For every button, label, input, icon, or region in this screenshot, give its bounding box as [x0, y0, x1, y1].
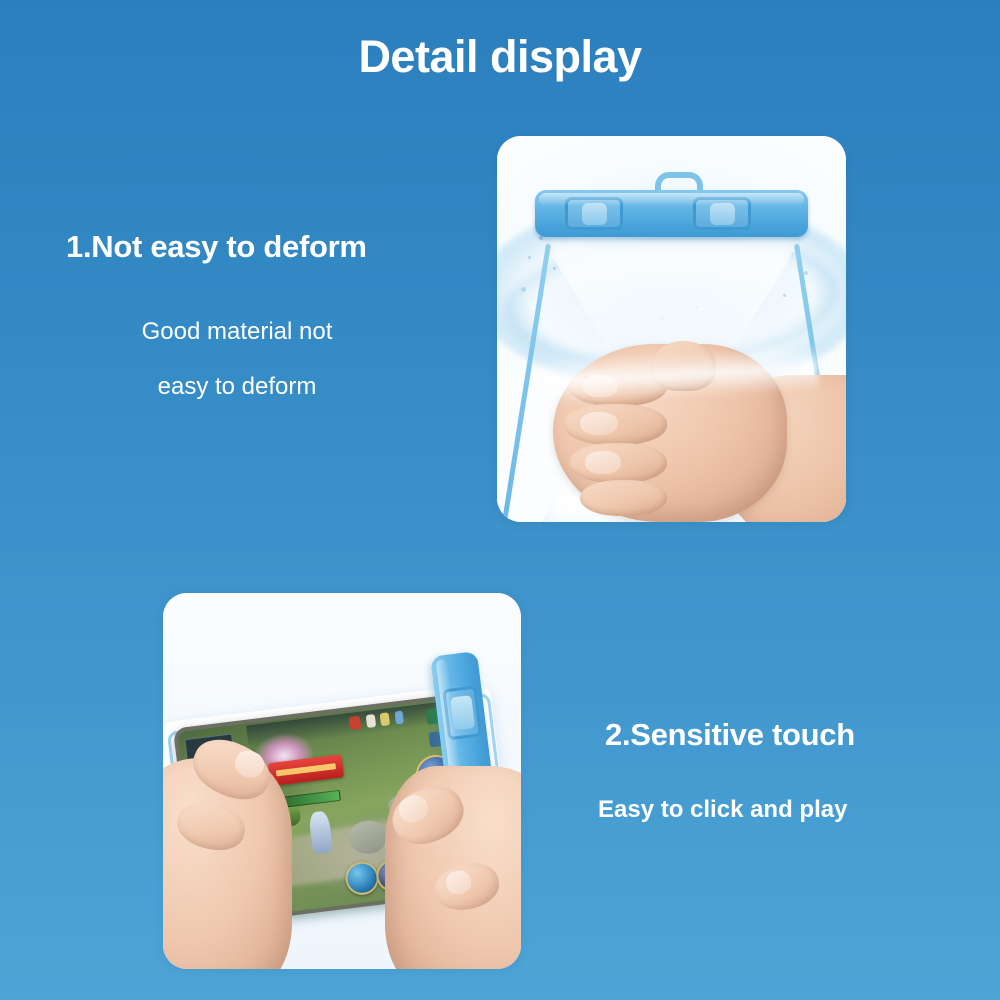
finger [580, 480, 667, 517]
pouch-clamp-assembly [535, 173, 807, 250]
clamp-lock-right [693, 197, 751, 230]
fingernail [585, 451, 620, 474]
feature-1-subtext-line-2: easy to deform [0, 373, 474, 401]
fingernail [580, 412, 618, 435]
lock-knob [582, 203, 607, 225]
feature-1-heading: 1.Not easy to deform [66, 229, 367, 265]
marketing-page: Detail display 1.Not easy to deform Good… [0, 0, 1000, 1000]
feature-2-photo-panel: 16 [163, 593, 521, 969]
clamp-bar [535, 190, 807, 238]
feature-1-subtext-line-1: Good material not [0, 318, 474, 346]
pouch-squeeze-photo [497, 136, 846, 522]
gaming-through-pouch-photo: 16 [163, 593, 521, 969]
feature-2-heading: 2.Sensitive touch [605, 717, 855, 753]
lock-knob [450, 696, 475, 731]
feature-1-photo-panel [497, 136, 846, 522]
page-title: Detail display [0, 34, 1000, 79]
feature-2-subtext-line-1: Easy to click and play [598, 796, 847, 824]
clamp-lock-left [565, 197, 623, 230]
lock-knob [710, 203, 735, 225]
clamp-lock-top [442, 686, 482, 740]
